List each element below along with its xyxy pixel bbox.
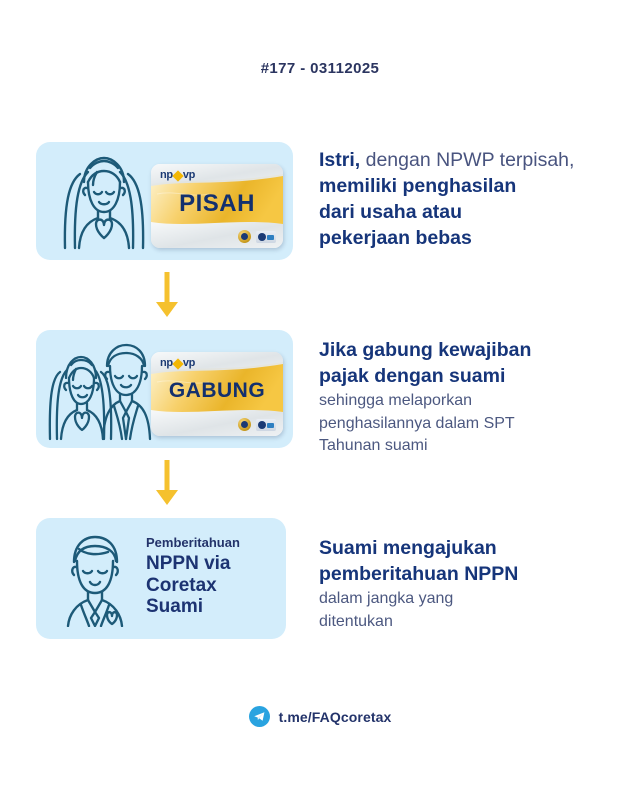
djp-logo-emblem-icon <box>256 419 276 431</box>
step-1-text: Istri, dengan NPWP terpisah, memiliki pe… <box>319 142 604 252</box>
arrow-step1-to-step2 <box>152 272 182 327</box>
npwp-logo: np vp <box>160 170 195 181</box>
npwp-card-gabung: np vp GABUNG <box>151 352 283 436</box>
infographic-page: #177 - 03112025 <box>0 0 640 800</box>
step-2-bold-line-1: Jika gabung kewajiban <box>319 339 531 361</box>
npwp-logo-suffix: vp <box>183 170 195 181</box>
step-3-card-main-line-2: Coretax <box>146 575 217 596</box>
step-2-visual-card: np vp GABUNG <box>36 330 293 448</box>
telegram-icon[interactable] <box>249 706 270 727</box>
step-2-bold-line-2: pajak dengan suami <box>319 365 505 387</box>
npwp-emblems <box>238 230 276 243</box>
bride-line-art <box>50 152 158 257</box>
npwp-emblems <box>238 418 276 431</box>
step-3-card-main: NPPN via Coretax Suami <box>146 553 276 618</box>
npwp-logo-diamond-icon <box>172 358 183 369</box>
step-1-lead-regular: dengan NPWP terpisah, <box>360 149 574 171</box>
footer: t.me/FAQcoretax <box>0 706 640 727</box>
arrow-step2-to-step3 <box>152 460 182 515</box>
step-1-visual-card: np vp PISAH <box>36 142 293 260</box>
step-2: np vp GABUNG Jika gabung kewajiban pajak… <box>36 330 604 458</box>
npwp-logo-suffix: vp <box>183 358 195 369</box>
npwp-card-label: GABUNG <box>151 380 283 401</box>
step-1-heading: Istri, dengan NPWP terpisah, memiliki pe… <box>319 148 604 252</box>
step-3-card-main-line-1: NPPN via <box>146 553 230 574</box>
djp-logo-emblem-icon <box>256 231 276 243</box>
step-3-sub-line-2: ditentukan <box>319 613 393 630</box>
telegram-link-label[interactable]: t.me/FAQcoretax <box>279 709 392 725</box>
step-1: np vp PISAH Istri, dengan NPWP terpisah,… <box>36 142 604 260</box>
npwp-card-pisah: np vp PISAH <box>151 164 283 248</box>
step-3-card-eyebrow: Pemberitahuan <box>146 536 276 551</box>
step-1-bold-line-3: pekerjaan bebas <box>319 227 472 249</box>
header: #177 - 03112025 <box>0 60 640 77</box>
npwp-logo-diamond-icon <box>172 170 183 181</box>
step-3-visual-card: Pemberitahuan NPPN via Coretax Suami <box>36 518 286 639</box>
step-3-bold-line-2: pemberitahuan NPPN <box>319 563 518 585</box>
step-2-sub-line-2: penghasilannya dalam SPT <box>319 415 515 432</box>
step-2-sub-line-1: sehingga melaporkan <box>319 392 472 409</box>
step-2-heading: Jika gabung kewajiban pajak dengan suami <box>319 338 604 390</box>
couple-line-art <box>44 340 166 446</box>
npwp-card-label: PISAH <box>151 192 283 216</box>
step-3-sub-line-1: dalam jangka yang <box>319 590 453 607</box>
man-line-art <box>52 532 138 632</box>
step-1-bold-line-2: dari usaha atau <box>319 201 462 223</box>
step-3-text: Suami mengajukan pemberitahuan NPPN dala… <box>319 518 604 633</box>
step-2-subtext: sehingga melaporkan penghasilannya dalam… <box>319 390 604 458</box>
step-1-lead-bold: Istri, <box>319 149 360 171</box>
step-2-sub-line-3: Tahunan suami <box>319 437 428 454</box>
garuda-seal-emblem-icon <box>238 230 251 243</box>
npwp-logo: np vp <box>160 358 195 369</box>
step-3-card-main-line-3: Suami <box>146 596 203 617</box>
step-3: Pemberitahuan NPPN via Coretax Suami Sua… <box>36 518 604 639</box>
step-3-heading: Suami mengajukan pemberitahuan NPPN <box>319 536 604 588</box>
step-3-card-text: Pemberitahuan NPPN via Coretax Suami <box>146 536 276 618</box>
step-1-bold-line-1: memiliki penghasilan <box>319 175 516 197</box>
step-2-text: Jika gabung kewajiban pajak dengan suami… <box>319 330 604 458</box>
page-title: #177 - 03112025 <box>0 60 640 77</box>
step-3-subtext: dalam jangka yang ditentukan <box>319 588 604 633</box>
step-3-bold-line-1: Suami mengajukan <box>319 537 497 559</box>
garuda-seal-emblem-icon <box>238 418 251 431</box>
